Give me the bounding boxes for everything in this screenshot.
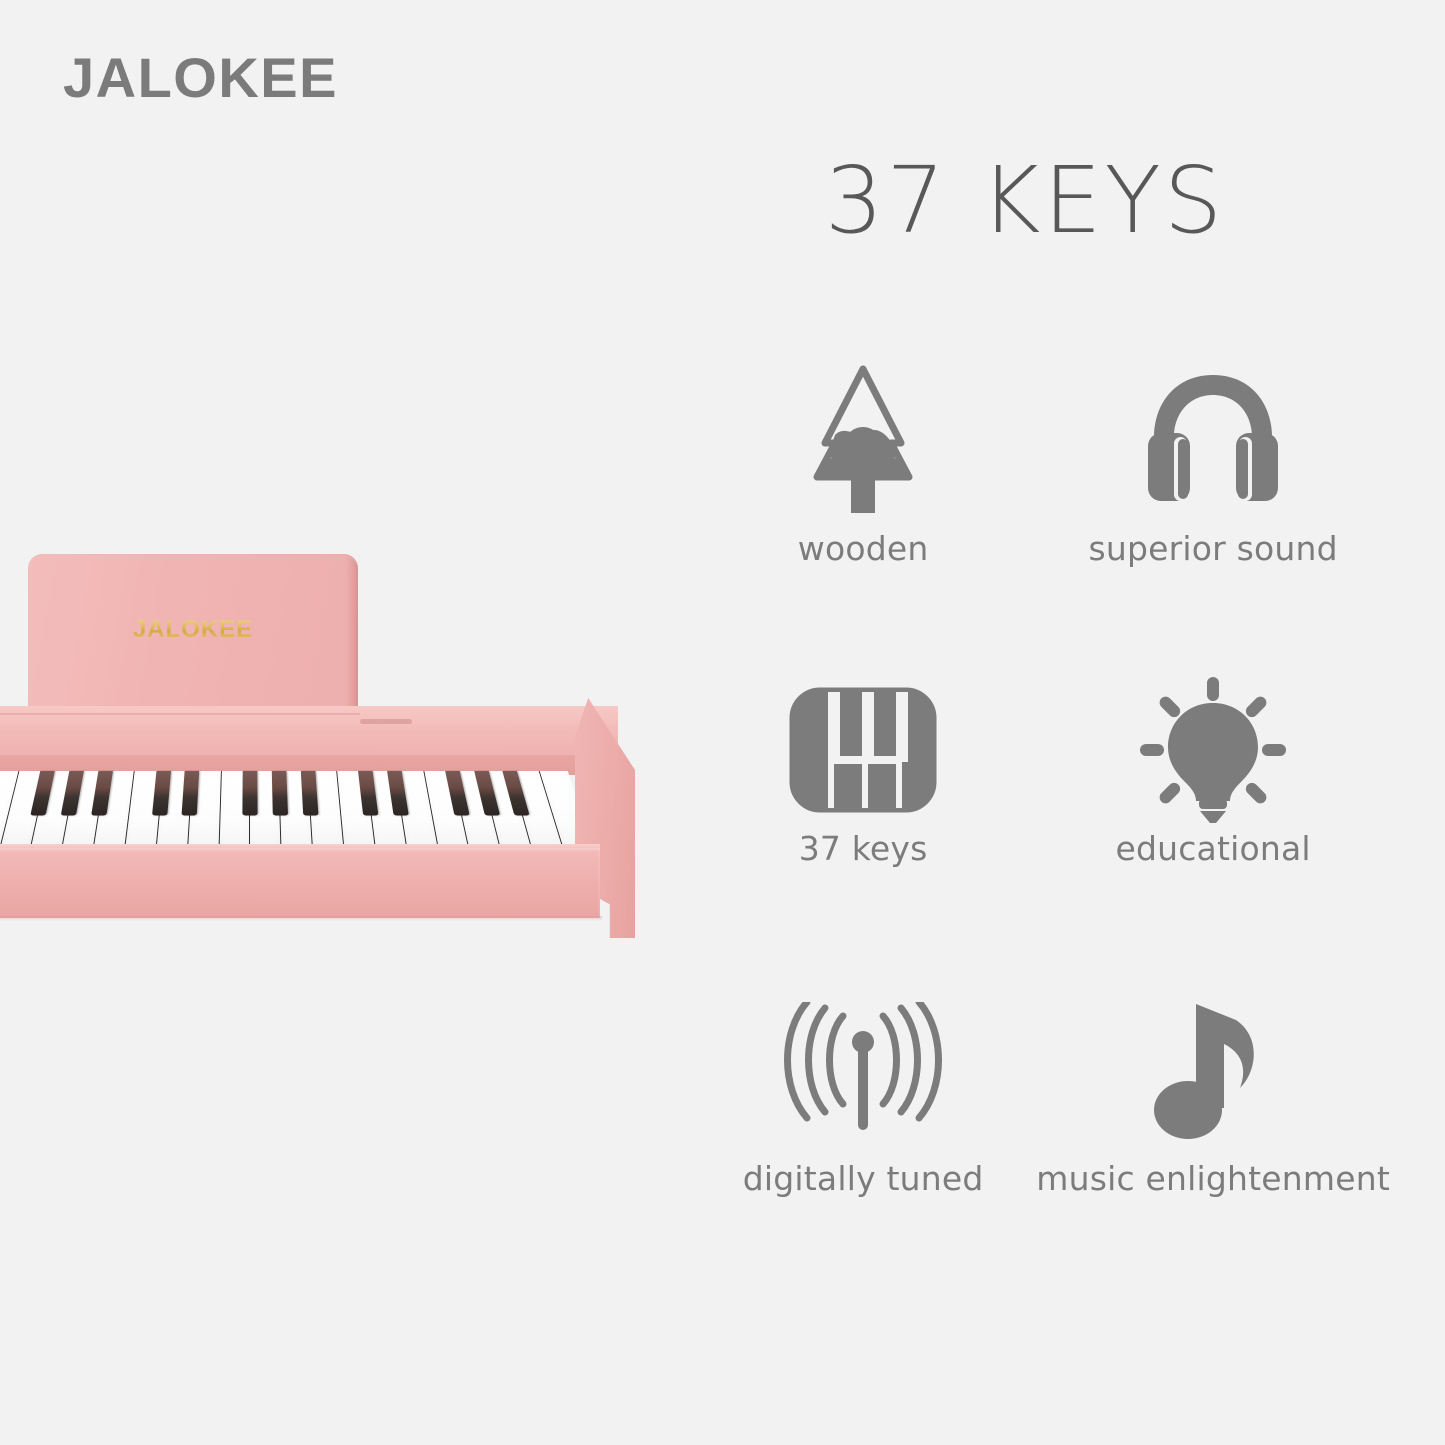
piano-black-key [301,771,319,815]
music-rest-slot [360,719,412,724]
piano-black-key [61,771,84,815]
antenna-signal-icon [783,995,943,1155]
piano-drop-shadow [0,916,602,921]
piano-black-key [242,771,257,815]
feature-item-digitally-tuned: digitally tuned [690,995,1036,1315]
feature-label: 37 keys [799,829,928,868]
feature-item-superior-sound: superior sound [1036,355,1390,675]
music-rest-panel: JALOKEE [28,554,358,712]
feature-label: superior sound [1088,529,1337,568]
feature-label: digitally tuned [743,1159,984,1198]
piano-deck-seam [0,713,360,715]
piano-black-key [387,771,409,815]
piano-black-key [474,771,500,815]
piano-keys-icon [788,675,938,825]
piano-black-key [91,771,113,815]
feature-label: educational [1115,829,1310,868]
page-headline: 37 KEYS [705,155,1345,247]
feature-item-music-enlightenment: music enlightenment [1036,995,1390,1315]
piano-black-key [358,771,378,815]
piano-black-key [503,771,530,815]
music-note-icon [1148,995,1278,1155]
feature-grid: wooden [690,355,1390,1315]
feature-label: wooden [798,529,929,568]
feature-item-educational: educational [1036,675,1390,995]
piano-front-rail [0,848,600,918]
product-logo-gold: JALOKEE [28,616,358,644]
headphones-icon [1138,355,1288,525]
feature-item-37-keys: 37 keys [690,675,1036,995]
feature-label: music enlightenment [1036,1159,1390,1198]
tree-icon [805,355,921,525]
product-photo-piano: JALOKEE [0,548,720,948]
piano-black-key [152,771,171,815]
product-feature-banner: JALOKEE 37 KEYS JALOKEE [0,0,1445,1445]
piano-black-key [445,771,469,815]
feature-item-wooden: wooden [690,355,1036,675]
lightbulb-icon [1138,675,1288,825]
piano-black-key [272,771,288,815]
brand-wordmark: JALOKEE [63,50,338,106]
piano-black-key [31,771,55,815]
piano-black-key [182,771,200,815]
